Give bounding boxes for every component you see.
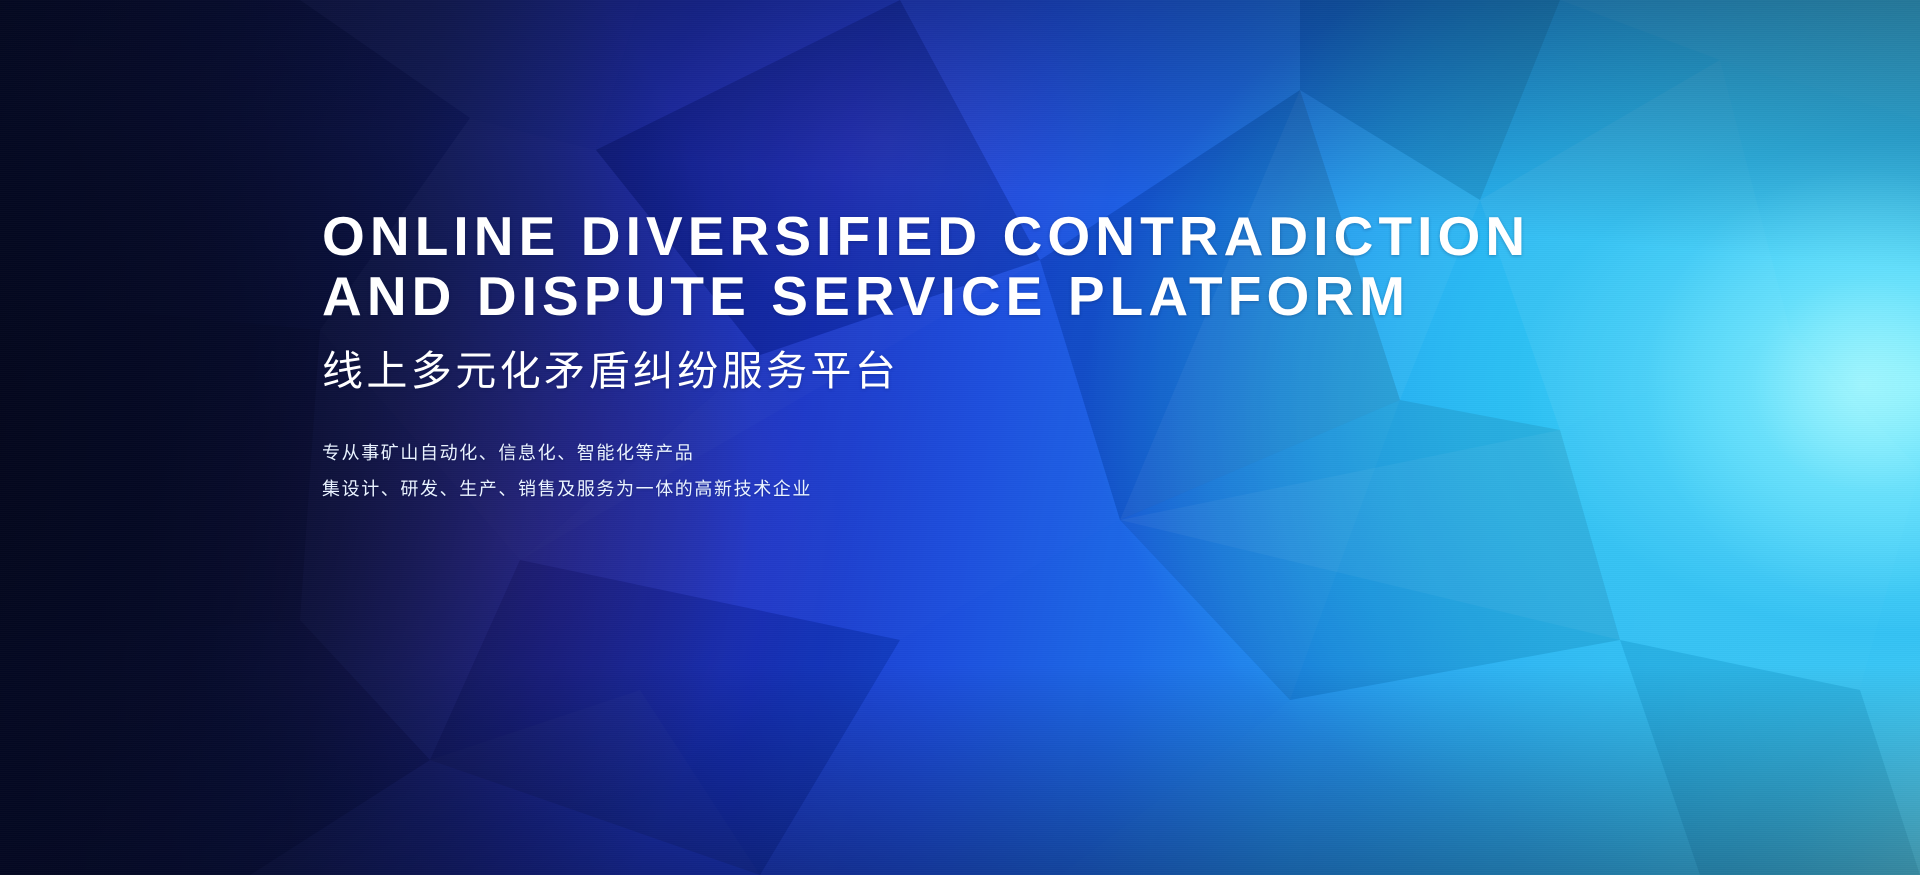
hero-banner: ONLINE DIVERSIFIED CONTRADICTION AND DIS… [0, 0, 1920, 875]
description-line-2: 集设计、研发、生产、销售及服务为一体的高新技术企业 [322, 471, 1662, 507]
description-line-1: 专从事矿山自动化、信息化、智能化等产品 [322, 435, 1662, 471]
hero-description: 专从事矿山自动化、信息化、智能化等产品 集设计、研发、生产、销售及服务为一体的高… [322, 435, 1662, 507]
headline-line-1: ONLINE DIVERSIFIED CONTRADICTION [322, 206, 1662, 266]
hero-content: ONLINE DIVERSIFIED CONTRADICTION AND DIS… [322, 206, 1662, 507]
hero-headline-english: ONLINE DIVERSIFIED CONTRADICTION AND DIS… [322, 206, 1662, 326]
hero-subtitle-chinese: 线上多元化矛盾纠纷服务平台 [322, 346, 1662, 396]
headline-line-2: AND DISPUTE SERVICE PLATFORM [322, 266, 1662, 326]
